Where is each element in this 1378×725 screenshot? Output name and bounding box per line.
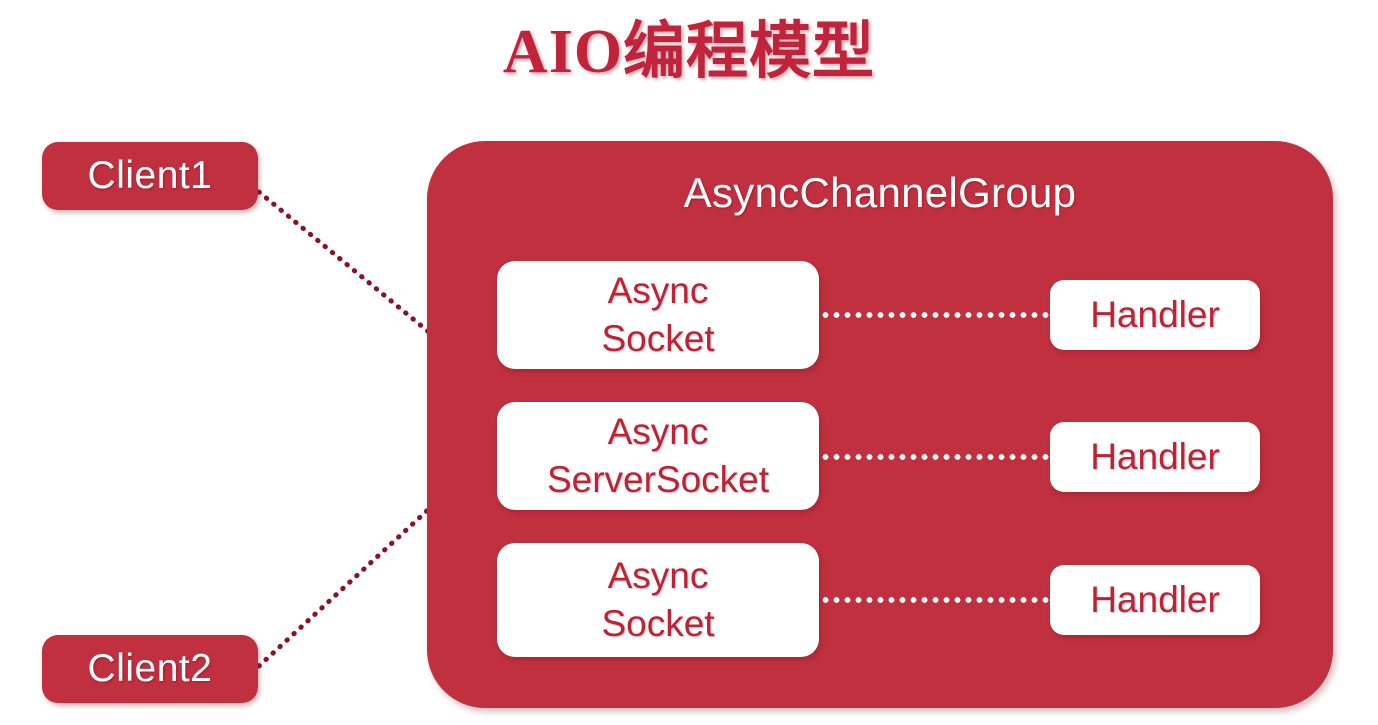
channel-box-3-line1: Async [608,552,709,600]
client-node-2[interactable]: Client2 [42,635,258,703]
client-node-1[interactable]: Client1 [42,142,258,210]
client1-connector-line [259,192,430,333]
async-channel-group-container: AsyncChannelGroup Async Socket Async Ser… [427,141,1333,708]
handler-box-1[interactable]: Handler [1050,280,1260,350]
diagram-canvas: AIO编程模型 Client1 Client2 AsyncChannelGrou… [0,0,1378,725]
channel-box-async-socket-1[interactable]: Async Socket [497,261,819,369]
channel-box-async-serversocket[interactable]: Async ServerSocket [497,402,819,510]
channel-box-2-line2: ServerSocket [547,456,769,504]
channel-box-1-line1: Async [608,267,709,315]
channel-box-2-line1: Async [608,408,709,456]
connector-channel-2-to-handler-2 [820,454,1050,460]
client-node-1-label: Client1 [88,154,213,198]
page-title: AIO编程模型 [0,16,1378,88]
handler-box-3-label: Handler [1090,578,1220,622]
handler-box-2[interactable]: Handler [1050,422,1260,492]
handler-box-3[interactable]: Handler [1050,565,1260,635]
channel-box-async-socket-2[interactable]: Async Socket [497,543,819,657]
handler-box-1-label: Handler [1090,293,1220,337]
handler-box-2-label: Handler [1090,435,1220,479]
channel-box-3-line2: Socket [601,600,714,648]
client2-connector-line [259,508,430,666]
channel-box-1-line2: Socket [601,315,714,363]
connector-channel-3-to-handler-3 [820,597,1050,603]
client-node-2-label: Client2 [88,647,213,691]
async-channel-group-title: AsyncChannelGroup [427,167,1333,219]
connector-channel-1-to-handler-1 [820,312,1050,318]
